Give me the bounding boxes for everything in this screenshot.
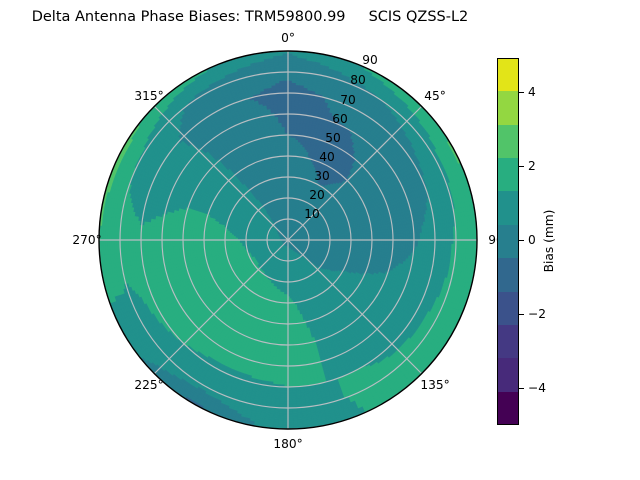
- angular-tick-45: 45°: [424, 89, 446, 103]
- colorbar-band: [497, 125, 519, 158]
- polar-grid: [99, 51, 477, 429]
- colorbar-band: [497, 392, 519, 425]
- colorbar-tick-mark: [519, 314, 524, 315]
- radial-tick-90: 90: [362, 53, 378, 67]
- colorbar-band: [497, 292, 519, 325]
- colorbar-tick-label: 4: [528, 85, 536, 99]
- colorbar-band: [497, 158, 519, 191]
- figure-canvas: Delta Antenna Phase Biases: TRM59800.99 …: [0, 0, 640, 480]
- colorbar-tick-mark: [519, 166, 524, 167]
- angular-tick-180: 180°: [273, 437, 302, 451]
- colorbar-band: [497, 358, 519, 391]
- radial-tick-80: 80: [350, 73, 366, 87]
- colorbar-tick-mark: [519, 92, 524, 93]
- colorbar-band: [497, 325, 519, 358]
- radial-tick-50: 50: [325, 131, 341, 145]
- colorbar-band: [497, 225, 519, 258]
- colorbar-tick-label: −4: [528, 381, 546, 395]
- radial-tick-40: 40: [319, 150, 335, 164]
- colorbar-band: [497, 191, 519, 224]
- angular-tick-225: 225°: [134, 378, 163, 392]
- radial-tick-10: 10: [304, 207, 320, 221]
- colorbar-tick-label: −2: [528, 307, 546, 321]
- colorbar-band: [497, 91, 519, 124]
- angular-tick-135: 135°: [420, 378, 449, 392]
- colorbar-tick-mark: [519, 388, 524, 389]
- colorbar-axis-label: Bias (mm): [542, 210, 556, 273]
- colorbar-tick-label: 2: [528, 159, 536, 173]
- angular-tick-270: 270°: [72, 233, 101, 247]
- angular-tick-0: 0°: [281, 31, 295, 45]
- colorbar-band: [497, 258, 519, 291]
- colorbar-tick-mark: [519, 240, 524, 241]
- colorbar-tick-label: 0: [528, 233, 536, 247]
- radial-tick-20: 20: [309, 188, 325, 202]
- angular-tick-315: 315°: [134, 89, 163, 103]
- radial-tick-30: 30: [314, 169, 330, 183]
- radial-tick-60: 60: [332, 112, 348, 126]
- radial-tick-70: 70: [340, 93, 356, 107]
- colorbar: [497, 58, 519, 425]
- colorbar-band: [497, 58, 519, 91]
